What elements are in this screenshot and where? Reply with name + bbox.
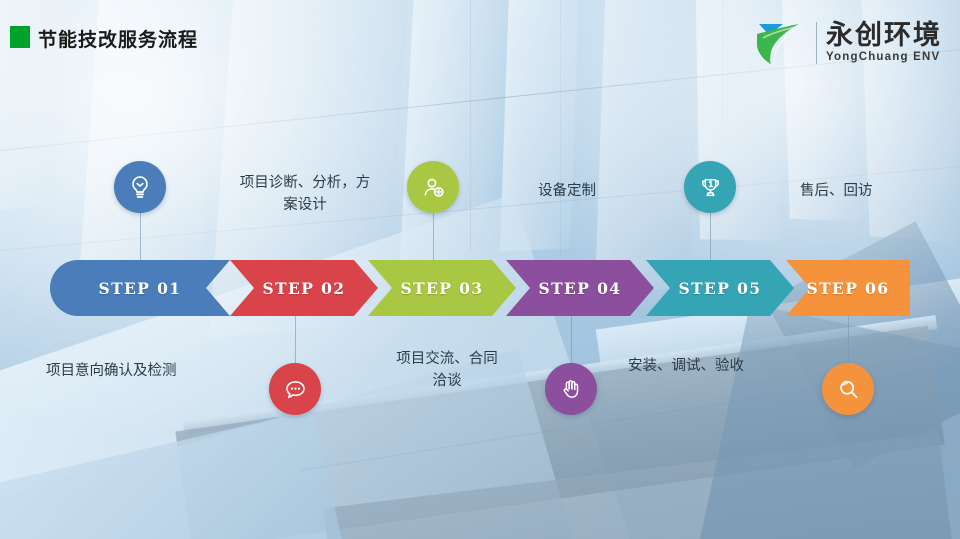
step-banner-4[interactable]: STEP 04 (506, 260, 654, 316)
step-text-line: 项目诊断、分析，方 (205, 172, 405, 194)
step-text-3: 项目交流、合同 洽谈 (352, 348, 542, 393)
connector-line-4 (571, 316, 572, 364)
step-text-line: 设备定制 (538, 183, 596, 199)
user-add-icon (420, 174, 447, 201)
hand-icon (558, 376, 584, 402)
connector-line-3 (433, 212, 434, 262)
connector-line-6 (848, 316, 849, 364)
step-icon-2-chat[interactable] (269, 363, 321, 415)
step-text-line: 售后、回访 (800, 183, 873, 199)
step-label-1: STEP 01 (99, 279, 182, 298)
step-banner-3[interactable]: STEP 03 (368, 260, 516, 316)
step-icon-3-user-add[interactable] (407, 161, 459, 213)
step-banner-1[interactable]: STEP 01 (50, 260, 230, 316)
step-label-6: STEP 06 (807, 279, 890, 298)
step-label-5: STEP 05 (679, 279, 762, 298)
step-text-2: 项目诊断、分析，方 案设计 (205, 172, 405, 217)
step-text-line: 案设计 (205, 194, 405, 216)
process-flow-diagram: STEP 01 项目意向确认及检测 STEP 02 (0, 0, 960, 539)
connector-line-2 (295, 316, 296, 364)
connector-line-1 (140, 212, 141, 262)
step-banner-5[interactable]: STEP 05 (646, 260, 794, 316)
step-banner-2[interactable]: STEP 02 (230, 260, 378, 316)
step-text-line: 项目意向确认及检测 (46, 363, 177, 379)
step-text-line: 洽谈 (352, 370, 542, 392)
step-icon-1-lightbulb[interactable] (114, 161, 166, 213)
step-label-3: STEP 03 (401, 279, 484, 298)
step-text-line: 安装、调试、验收 (628, 358, 744, 374)
step-icon-4-hand[interactable] (545, 363, 597, 415)
step-text-5: 安装、调试、验收 (628, 355, 828, 377)
step-text-6: 售后、回访 (800, 180, 960, 202)
step-banner-6[interactable]: STEP 06 (786, 260, 910, 316)
step-icon-6-magnifier[interactable] (822, 363, 874, 415)
step-label-4: STEP 04 (539, 279, 622, 298)
step-label-2: STEP 02 (263, 279, 346, 298)
step-text-1: 项目意向确认及检测 (46, 360, 276, 382)
magnifier-icon (835, 376, 862, 403)
step-text-4: 设备定制 (538, 180, 678, 202)
lightbulb-icon (126, 173, 154, 201)
connector-line-5 (710, 212, 711, 262)
step-text-line: 项目交流、合同 (352, 348, 542, 370)
trophy-icon (697, 174, 724, 201)
chat-bubble-icon (282, 376, 309, 403)
step-icon-5-trophy[interactable] (684, 161, 736, 213)
